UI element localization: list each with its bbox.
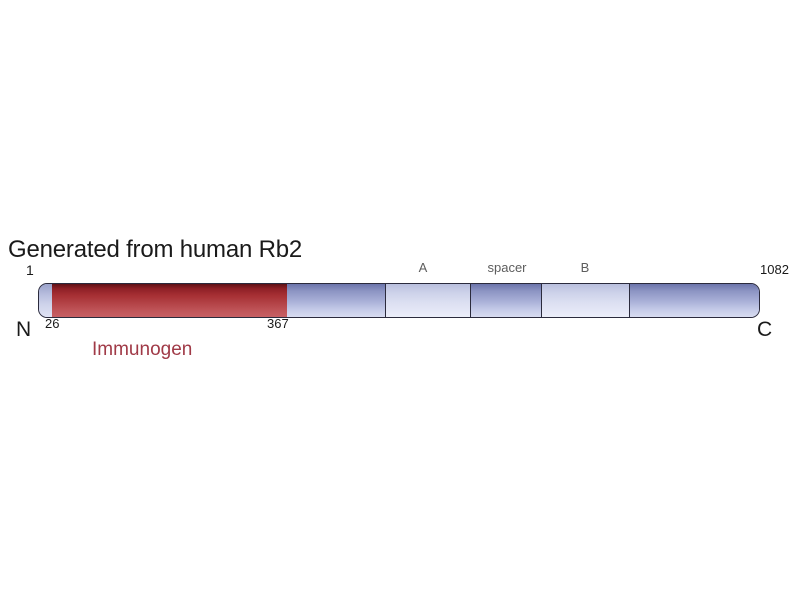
segment-c-terminal (629, 284, 759, 317)
protein-domain-diagram: Generated from human Rb2 1 1082 A spacer… (0, 0, 800, 600)
segment-spacer (470, 284, 541, 317)
immunogen-end-position: 367 (267, 316, 289, 331)
position-label-end: 1082 (760, 262, 789, 277)
immunogen-start-position: 26 (45, 316, 59, 331)
domain-label-a: A (408, 260, 438, 275)
position-label-start: 1 (26, 262, 34, 278)
segment-n-cap (39, 284, 53, 317)
domain-label-spacer: spacer (476, 260, 538, 275)
immunogen-caption: Immunogen (92, 339, 192, 361)
segment-domain-a (385, 284, 470, 317)
terminus-label-c: C (757, 318, 772, 342)
segment-linker-1 (287, 284, 386, 317)
terminus-label-n: N (16, 318, 31, 342)
protein-bar (38, 283, 760, 318)
domain-label-b: B (570, 260, 600, 275)
segment-domain-b (541, 284, 629, 317)
segment-immunogen (52, 284, 287, 317)
page-title: Generated from human Rb2 (8, 236, 302, 264)
